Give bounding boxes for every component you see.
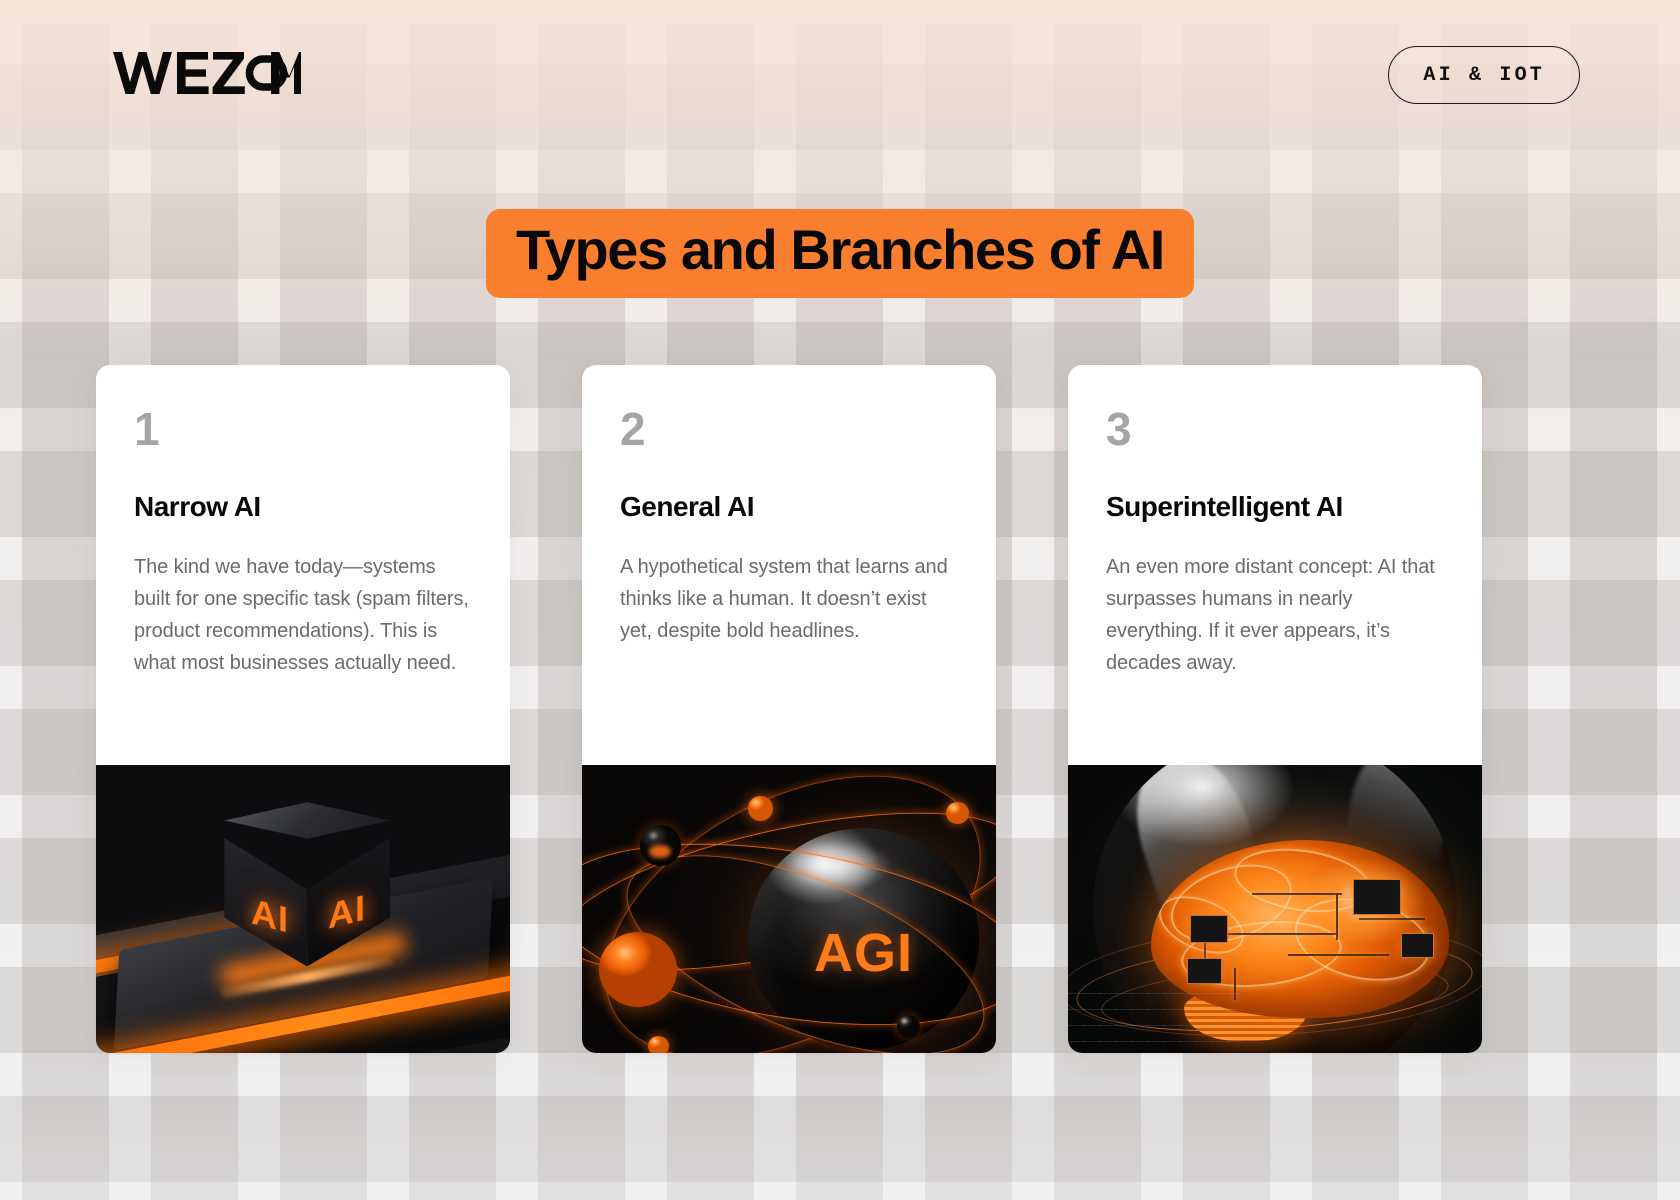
- card-general-ai[interactable]: 2 General AI A hypothetical system that …: [582, 365, 996, 1053]
- card-general-ai-body: 2 General AI A hypothetical system that …: [582, 365, 996, 733]
- page-header: WEZOM AI & IOT: [0, 0, 1680, 150]
- card-description: The kind we have today—systems built for…: [134, 551, 472, 679]
- page-title-banner: Types and Branches of AI: [486, 209, 1194, 298]
- card-image-circuit-brain: [1068, 765, 1482, 1053]
- card-number: 1: [134, 406, 472, 452]
- card-title: Superintelligent AI: [1106, 492, 1444, 523]
- page-title: Types and Branches of AI: [516, 222, 1164, 278]
- card-number: 3: [1106, 406, 1444, 452]
- circuit-trace: [1288, 954, 1389, 956]
- orbit-sphere-small-right: [946, 802, 968, 823]
- cube-label-right: AI: [328, 886, 366, 937]
- orbit-sphere-large-orange: [599, 932, 678, 1007]
- card-narrow-ai-body: 1 Narrow AI The kind we have today—syste…: [96, 365, 510, 701]
- orbit-sphere-small-bottom: [897, 1015, 920, 1037]
- wezom-logo[interactable]: WEZOM: [113, 50, 303, 101]
- circuit-chip: [1353, 879, 1401, 915]
- card-title: General AI: [620, 492, 958, 523]
- wezom-logo-icon: [113, 50, 303, 96]
- circuit-trace: [1336, 893, 1338, 939]
- ai-types-card-grid: 1 Narrow AI The kind we have today—syste…: [96, 365, 1584, 1053]
- agi-label: AGI: [814, 922, 913, 984]
- card-image-agi-sphere: AGI: [582, 765, 996, 1053]
- cube-label-left: AI: [251, 890, 289, 941]
- wireframe-mesh-floor: [1068, 978, 1242, 1053]
- card-image-ai-cube: AI AI: [96, 765, 510, 1053]
- circuit-trace: [1359, 918, 1425, 920]
- card-title: Narrow AI: [134, 492, 472, 523]
- circuit-trace: [1252, 893, 1341, 895]
- orbit-sphere-small-left: [648, 1036, 669, 1053]
- circuit-chip: [1401, 933, 1434, 958]
- card-narrow-ai[interactable]: 1 Narrow AI The kind we have today—syste…: [96, 365, 510, 1053]
- card-description: A hypothetical system that learns and th…: [620, 551, 958, 647]
- card-number: 2: [620, 406, 958, 452]
- card-superintelligent-ai-body: 3 Superintelligent AI An even more dista…: [1068, 365, 1482, 765]
- ai-cube: AI AI: [224, 802, 390, 981]
- card-description: An even more distant concept: AI that su…: [1106, 551, 1444, 679]
- page-title-wrapper: Types and Branches of AI: [0, 209, 1680, 298]
- ai-and-iot-badge[interactable]: AI & IOT: [1388, 46, 1580, 104]
- card-superintelligent-ai[interactable]: 3 Superintelligent AI An even more dista…: [1068, 365, 1482, 1053]
- circuit-chip: [1190, 915, 1229, 944]
- cube-face-right: AI: [307, 838, 390, 967]
- orbit-sphere-dark: [640, 825, 681, 865]
- cube-face-left: AI: [224, 838, 307, 967]
